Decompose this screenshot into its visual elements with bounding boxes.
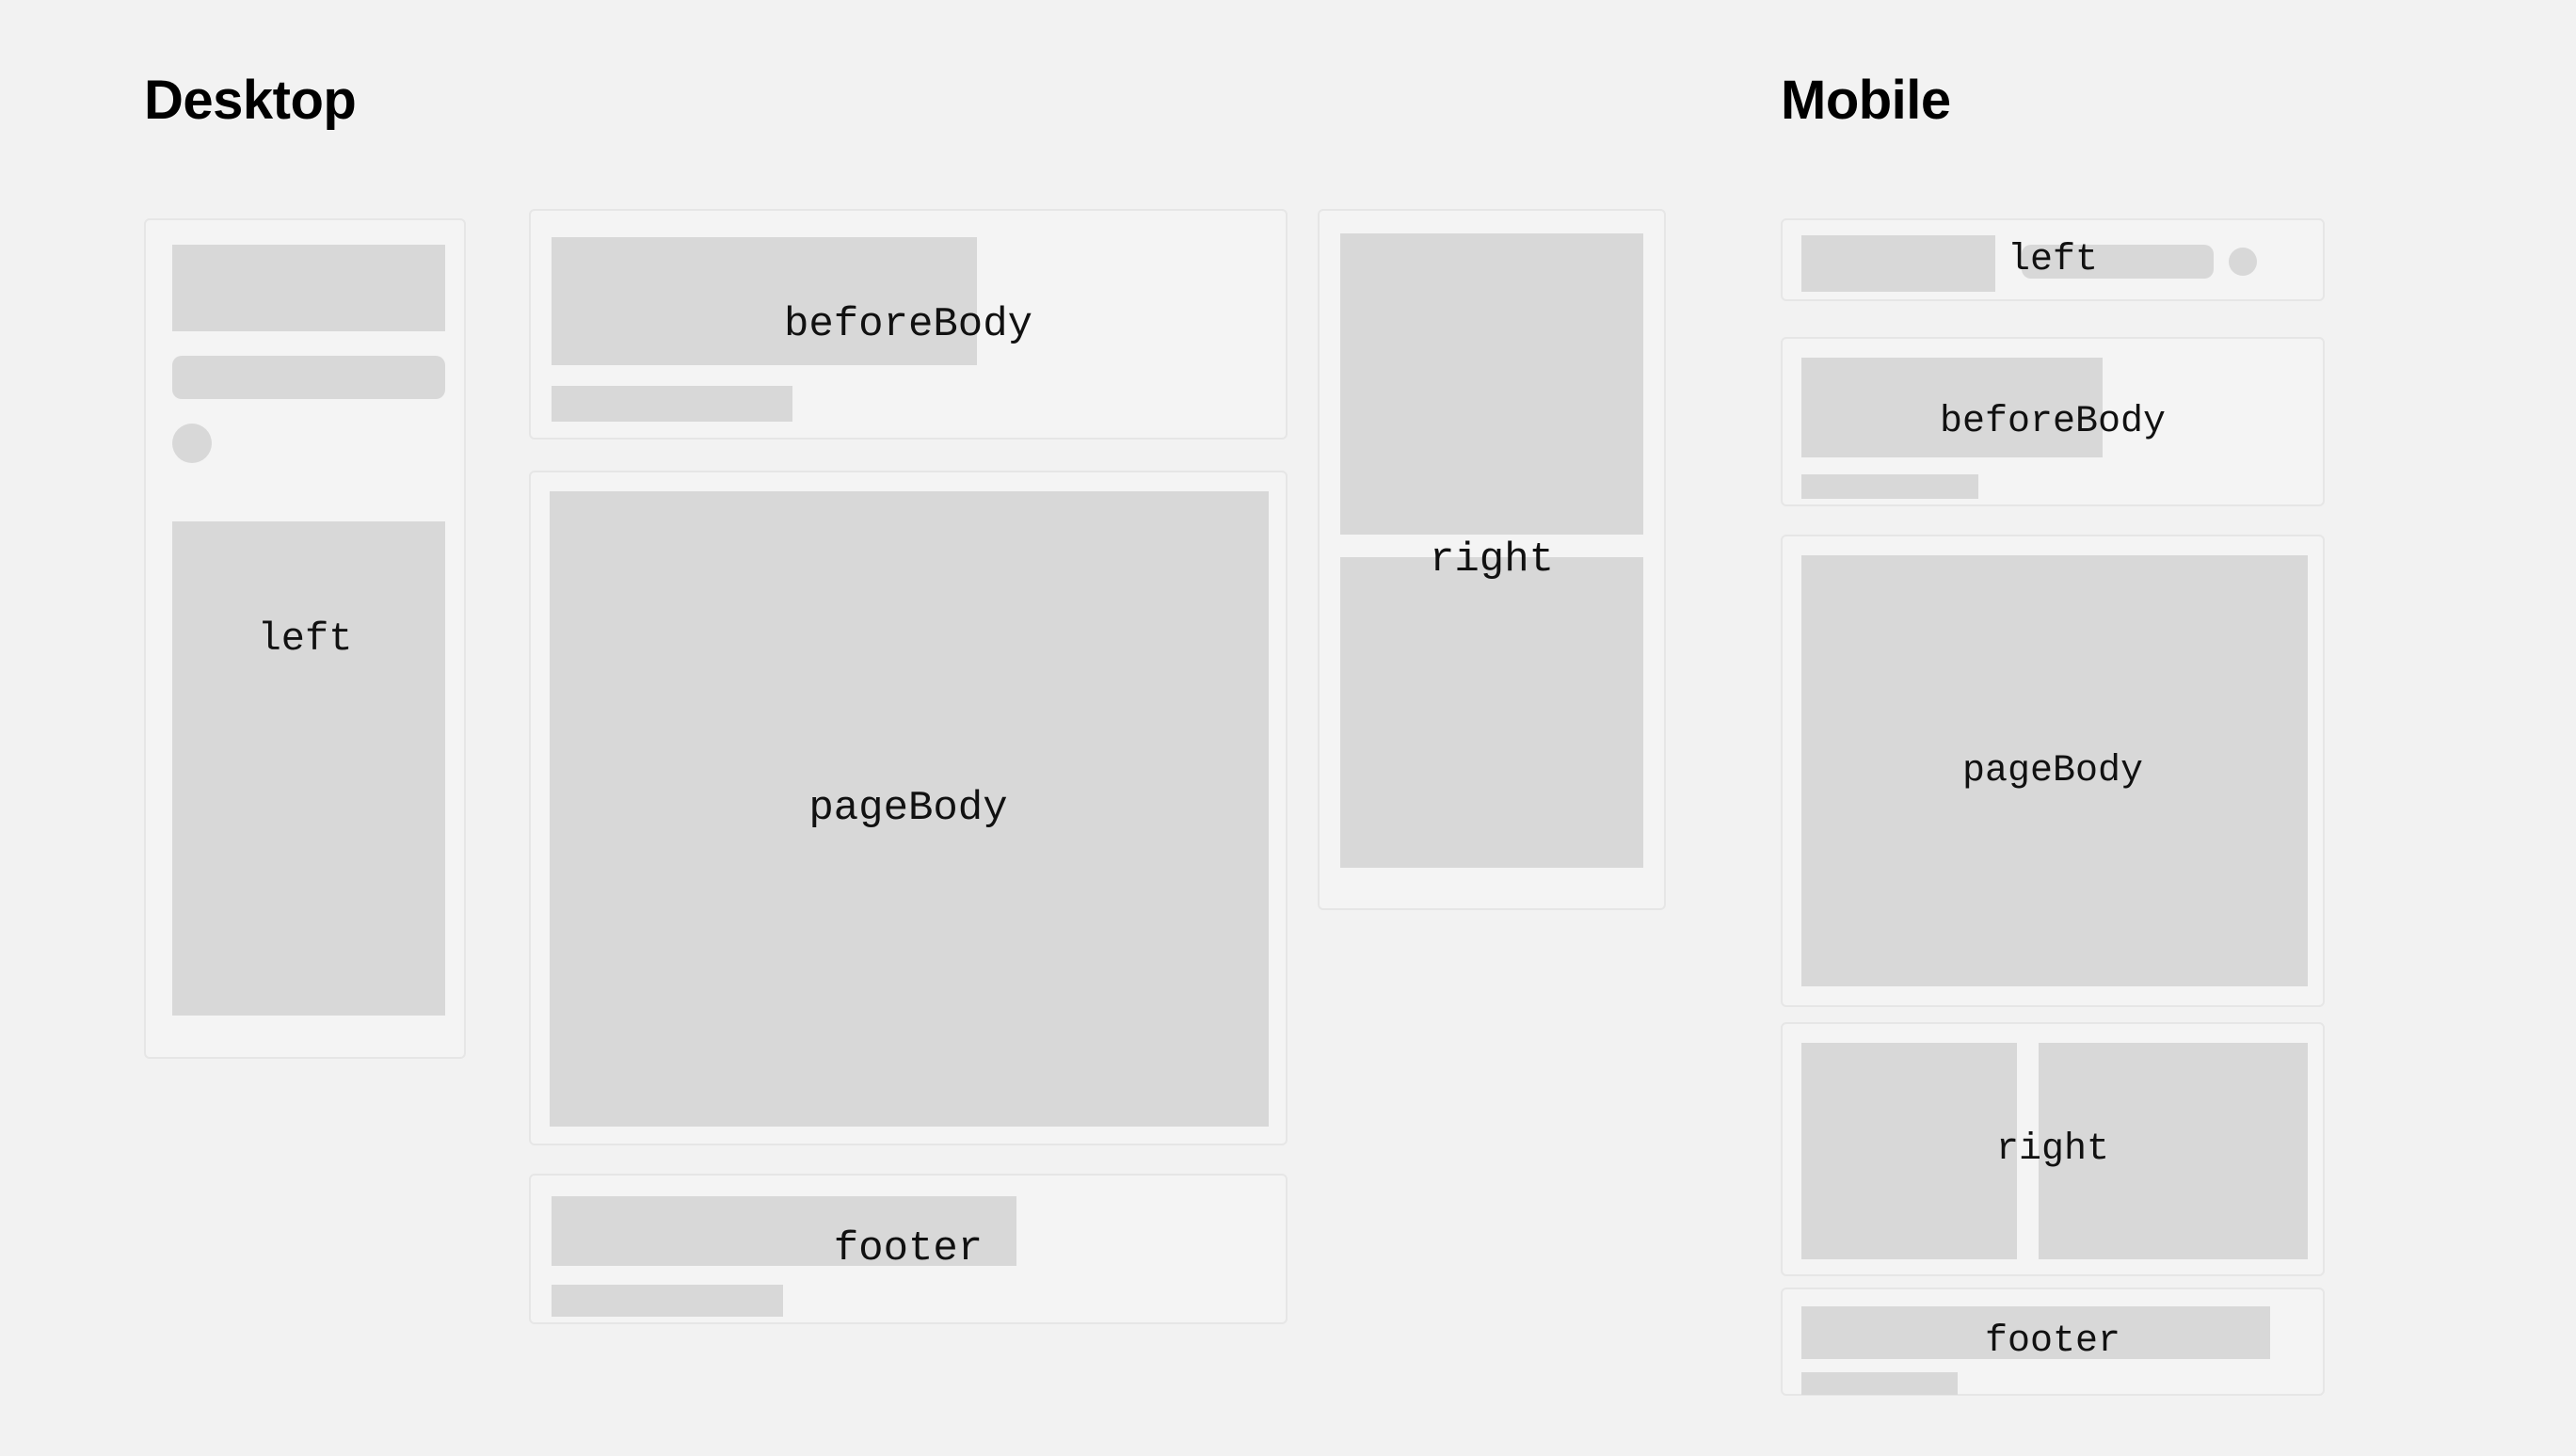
mobile-region-beforebody[interactable] [1781,337,2325,506]
placeholder-avatar-circle [172,424,212,463]
desktop-region-left[interactable] [144,218,466,1059]
mobile-region-pagebody[interactable] [1781,535,2325,1007]
placeholder-block [552,1196,1016,1266]
placeholder-block [552,237,977,365]
mobile-region-right[interactable] [1781,1022,2325,1276]
placeholder-block [172,521,445,1016]
desktop-region-footer[interactable] [529,1174,1288,1324]
placeholder-block [1801,555,2308,986]
layout-preview-canvas: Desktop left beforeBody pageBody footer … [0,0,2576,1456]
placeholder-bar [552,1285,783,1317]
desktop-region-right[interactable] [1318,209,1666,910]
placeholder-bar [1801,1372,1958,1395]
placeholder-bar [2022,245,2214,279]
placeholder-block [550,491,1269,1127]
placeholder-avatar-circle [2229,248,2257,276]
placeholder-block [172,245,445,331]
desktop-region-pagebody[interactable] [529,471,1288,1145]
placeholder-block [1340,233,1643,535]
placeholder-block [2039,1043,2308,1259]
desktop-section-title: Desktop [144,73,356,128]
mobile-region-left[interactable] [1781,218,2325,301]
mobile-section-title: Mobile [1781,73,1951,128]
placeholder-block [1801,358,2103,457]
placeholder-block [1801,235,1995,292]
placeholder-block [1801,1306,2270,1359]
placeholder-block [1340,557,1643,868]
desktop-region-beforebody[interactable] [529,209,1288,440]
placeholder-bar [172,356,445,399]
placeholder-block [1801,1043,2017,1259]
placeholder-bar [1801,474,1978,499]
placeholder-bar [552,386,792,422]
mobile-region-footer[interactable] [1781,1288,2325,1396]
